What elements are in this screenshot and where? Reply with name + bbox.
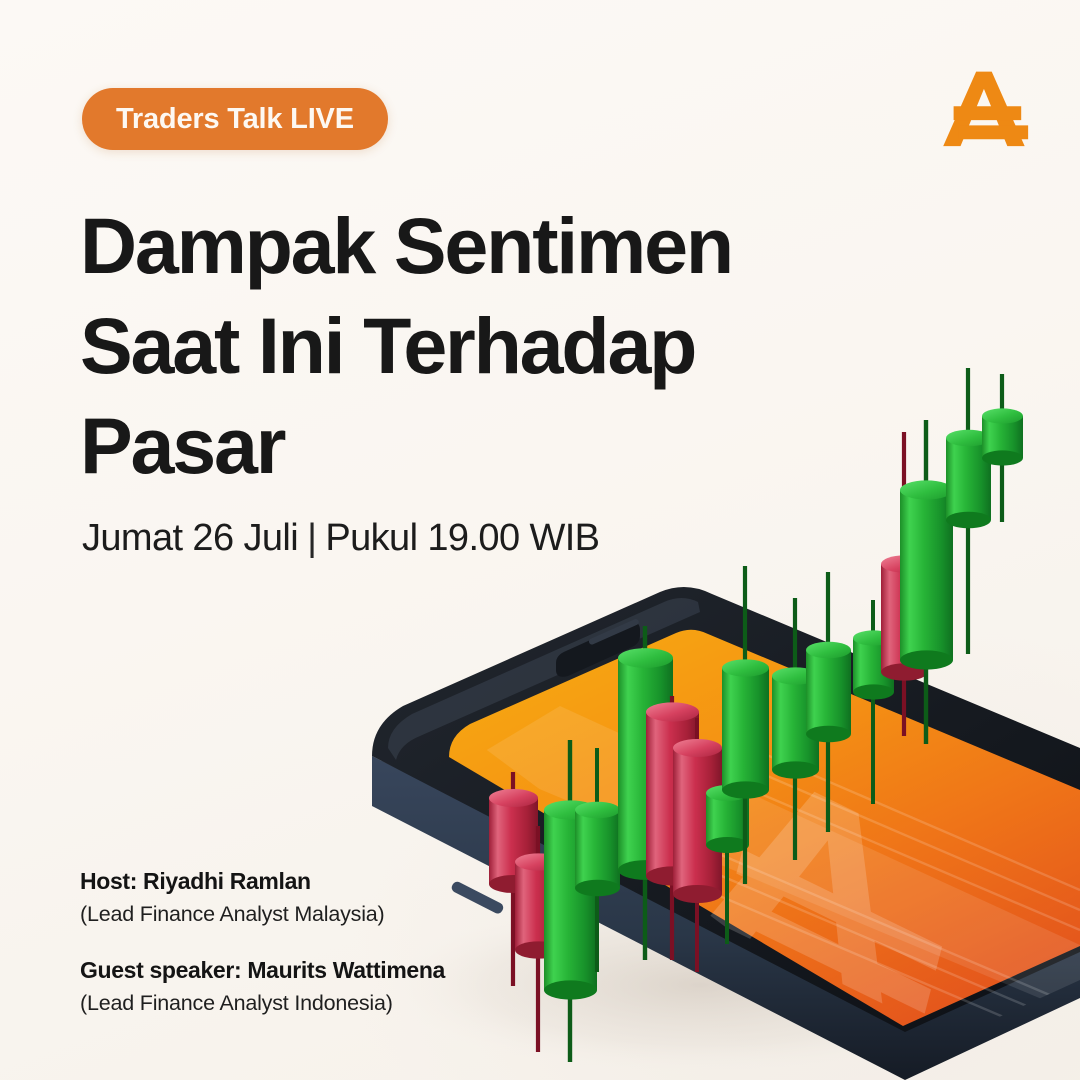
host-name: Host: Riyadhi Ramlan bbox=[80, 866, 550, 896]
headline-line-1: Dampak Sentimen bbox=[80, 196, 810, 296]
headline-line-2: Saat Ini Terhadap bbox=[80, 296, 810, 396]
event-date: Jumat 26 Juli bbox=[82, 517, 298, 559]
credits-list: Host: Riyadhi Ramlan (Lead Finance Analy… bbox=[80, 866, 550, 1018]
headline-line-3: Pasar bbox=[80, 396, 810, 496]
datetime-separator: | bbox=[307, 517, 316, 559]
event-time: Pukul 19.00 WIB bbox=[325, 517, 599, 559]
live-badge[interactable]: Traders Talk LIVE bbox=[82, 88, 388, 150]
page-title: Dampak Sentimen Saat Ini Terhadap Pasar bbox=[80, 196, 810, 496]
content-layer: Traders Talk LIVE Dampak Sentimen Saat I… bbox=[0, 0, 1080, 1080]
credit-guest-speaker: Guest speaker: Maurits Wattimena (Lead F… bbox=[80, 955, 550, 1018]
credit-host: Host: Riyadhi Ramlan (Lead Finance Analy… bbox=[80, 866, 550, 929]
poster-canvas: Traders Talk LIVE Dampak Sentimen Saat I… bbox=[0, 0, 1080, 1080]
octa-a-logo-icon bbox=[938, 56, 1042, 160]
guest-speaker-role: (Lead Finance Analyst Indonesia) bbox=[80, 988, 550, 1018]
guest-speaker-name: Guest speaker: Maurits Wattimena bbox=[80, 955, 550, 985]
host-role: (Lead Finance Analyst Malaysia) bbox=[80, 899, 550, 929]
live-badge-label: Traders Talk LIVE bbox=[116, 103, 354, 136]
event-datetime: Jumat 26 Juli|Pukul 19.00 WIB bbox=[82, 514, 599, 562]
